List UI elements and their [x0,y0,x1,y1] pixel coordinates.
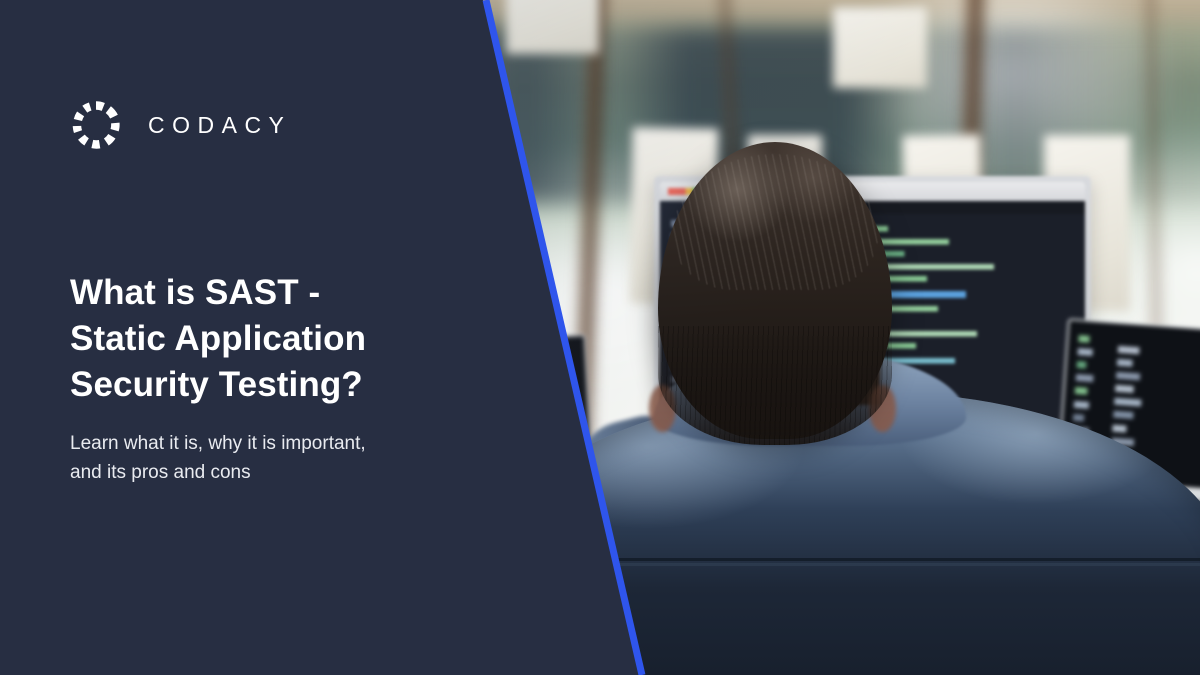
page-title: What is SAST - Static Application Securi… [70,270,470,409]
headline-line-1: What is SAST - [70,273,320,312]
codacy-wordmark: CODACY [148,114,291,137]
page-subtitle: Learn what it is, why it is important, a… [70,430,490,488]
headline-line-3: Security Testing? [70,365,363,404]
subhead-line-1: Learn what it is, why it is important, [70,433,366,454]
panel-content: CODACY What is SAST - Static Application… [70,0,490,675]
codacy-logo[interactable]: CODACY [70,99,291,151]
headline-line-2: Static Application [70,319,366,358]
segmented-ring-icon [70,99,122,151]
subhead-line-2: and its pros and cons [70,462,251,483]
hero-banner: CODACY What is SAST - Static Application… [0,0,1200,675]
developer-head-hair [658,142,892,439]
